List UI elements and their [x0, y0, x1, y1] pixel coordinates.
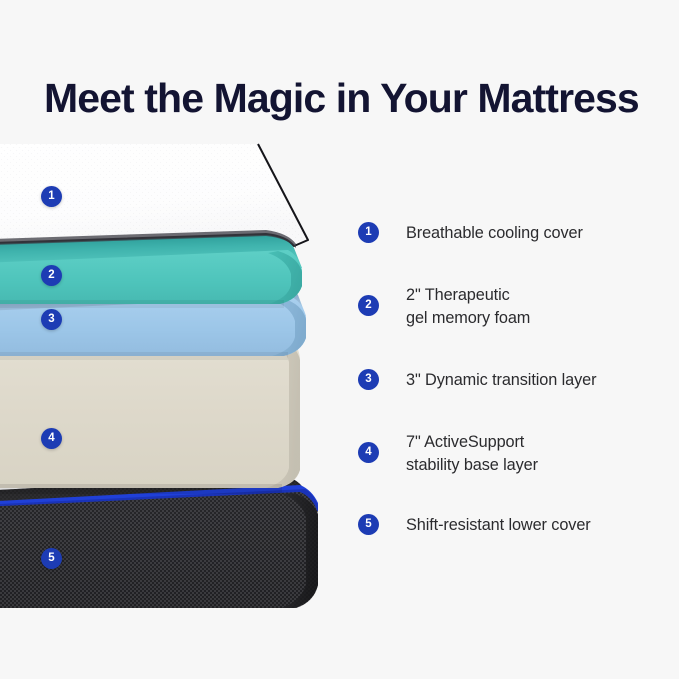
layer-badge-4[interactable]: 4	[41, 428, 62, 449]
legend-label-1: Breathable cooling cover	[406, 222, 583, 245]
legend-badge-4: 4	[358, 442, 379, 463]
legend-item-4[interactable]: 4 7" ActiveSupport stability base layer	[358, 431, 538, 476]
legend-label-3: 3" Dynamic transition layer	[406, 369, 596, 392]
layer-badge-1[interactable]: 1	[41, 186, 62, 207]
mattress-infographic: Meet the Magic in Your Mattress	[0, 0, 679, 679]
legend-badge-2: 2	[358, 295, 379, 316]
legend-item-5[interactable]: 5 Shift-resistant lower cover	[358, 514, 591, 537]
legend-label-4: 7" ActiveSupport stability base layer	[406, 431, 538, 476]
layer-badge-5[interactable]: 5	[41, 548, 62, 569]
legend-item-1[interactable]: 1 Breathable cooling cover	[358, 222, 583, 245]
page-title: Meet the Magic in Your Mattress	[44, 73, 664, 123]
legend-label-2: 2" Therapeutic gel memory foam	[406, 284, 530, 329]
legend-badge-1: 1	[358, 222, 379, 243]
layer-5-shape	[0, 475, 318, 608]
legend-badge-3: 3	[358, 369, 379, 390]
legend-label-5: Shift-resistant lower cover	[406, 514, 591, 537]
legend-item-3[interactable]: 3 3" Dynamic transition layer	[358, 369, 596, 392]
layer-badge-2[interactable]: 2	[41, 265, 62, 286]
legend-badge-5: 5	[358, 514, 379, 535]
mattress-illustration: 1 2 3 4 5	[0, 140, 340, 620]
legend-item-2[interactable]: 2 2" Therapeutic gel memory foam	[358, 284, 530, 329]
layer-badge-3[interactable]: 3	[41, 309, 62, 330]
